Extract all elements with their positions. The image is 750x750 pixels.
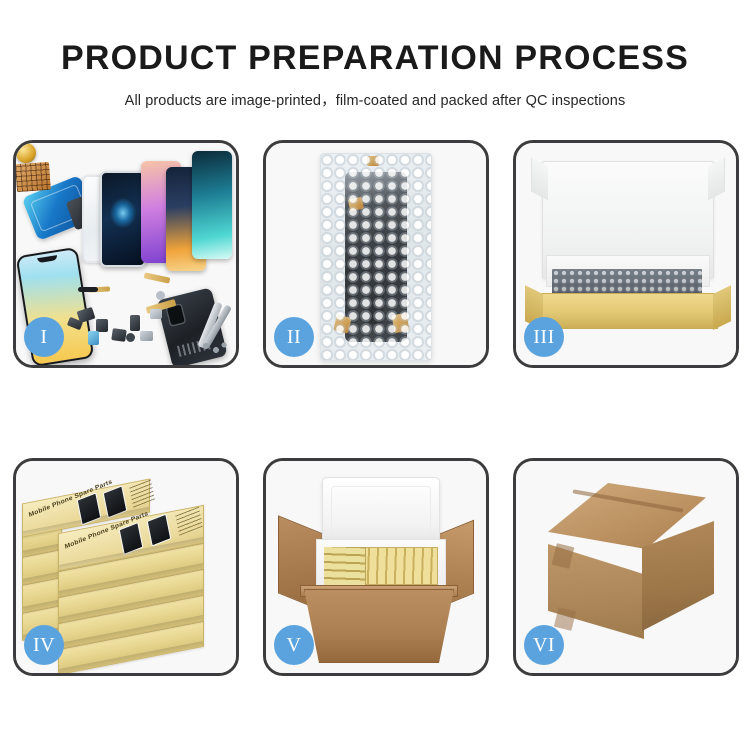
small-part-icon [130, 315, 140, 331]
foam-lid-icon [322, 477, 440, 543]
small-part-icon [88, 331, 99, 345]
step-panel-5: V [263, 458, 489, 676]
sealed-carton-icon [532, 483, 722, 653]
carton-tape-patch [554, 607, 576, 631]
speaker-coil-icon [16, 143, 36, 163]
flex-cable-icon [368, 228, 387, 325]
step-badge-6: VI [524, 625, 564, 665]
phone-teal-icon [192, 151, 232, 259]
step-badge-2: II [274, 317, 314, 357]
circuit-board-icon [16, 162, 51, 192]
step-badge-1: I [24, 317, 64, 357]
packed-boxes-icon [324, 547, 366, 585]
product-preparation-infographic: PRODUCT PREPARATION PROCESS All products… [0, 0, 750, 750]
header: PRODUCT PREPARATION PROCESS All products… [0, 0, 750, 110]
bubble-wrapped-contents-icon [552, 269, 702, 295]
page-title: PRODUCT PREPARATION PROCESS [0, 40, 750, 77]
carton-body-icon [304, 589, 454, 663]
screws-icon [202, 341, 228, 355]
small-part-icon [150, 309, 162, 319]
step-panel-3: III [513, 140, 739, 368]
kraft-box-base-icon [538, 293, 718, 329]
small-part-icon [126, 333, 135, 342]
small-part-icon [78, 287, 98, 292]
small-part-icon [156, 291, 165, 300]
step-panel-6: VI [513, 458, 739, 676]
tape-tab-icon [367, 156, 379, 166]
lcd-screen-icon [100, 171, 146, 267]
step-panel-1: I [13, 140, 239, 368]
step-panel-4: Mobile Phone Spare Parts Mobile Phone Sp… [13, 458, 239, 676]
flex-cable-icon [144, 272, 171, 283]
tape-tab-icon [392, 313, 410, 333]
small-part-icon [111, 328, 127, 342]
step-badge-5: V [274, 625, 314, 665]
steps-grid: I II [13, 140, 737, 676]
small-part-icon [96, 319, 108, 332]
step-panel-2: II [263, 140, 489, 368]
page-subtitle: All products are image-printed，film-coat… [0, 89, 750, 110]
step-badge-3: III [524, 317, 564, 357]
small-part-icon [140, 331, 153, 341]
bubble-wrap-bag-icon [320, 153, 432, 361]
step-badge-4: IV [24, 625, 64, 665]
